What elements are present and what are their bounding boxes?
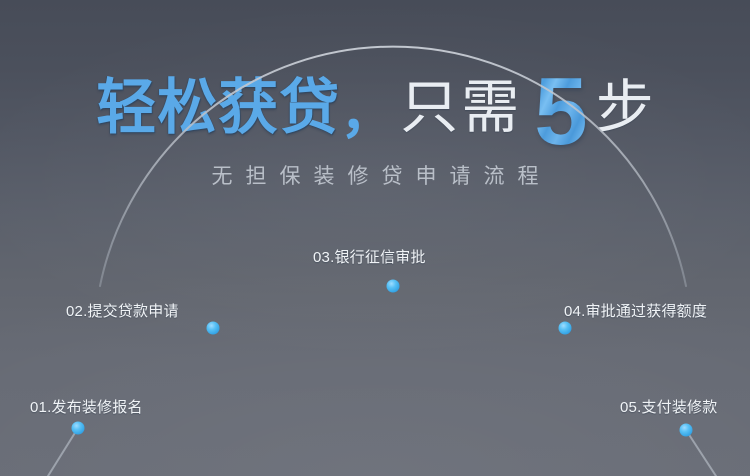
step-dot-02[interactable]	[207, 322, 220, 335]
step-dot-01[interactable]	[72, 422, 85, 435]
flow-arc-tail-left	[48, 428, 78, 476]
step-dot-05[interactable]	[680, 424, 693, 437]
flow-arc-tail-right	[686, 430, 716, 476]
step-dot-03[interactable]	[387, 280, 400, 293]
step-label-05[interactable]: 05.支付装修款	[620, 396, 717, 417]
promo-banner: 轻松获贷 ， 只需 5 步 无担保装修贷申请流程	[0, 0, 750, 476]
step-label-03[interactable]: 03.银行征信审批	[313, 246, 426, 267]
step-label-01[interactable]: 01.发布装修报名	[30, 396, 143, 417]
step-label-02[interactable]: 02.提交贷款申请	[66, 300, 179, 321]
step-dot-04[interactable]	[559, 322, 572, 335]
process-flow: 01.发布装修报名 02.提交贷款申请 03.银行征信审批 04.审批通过获得额…	[0, 0, 750, 476]
step-label-04[interactable]: 04.审批通过获得额度	[564, 300, 707, 321]
